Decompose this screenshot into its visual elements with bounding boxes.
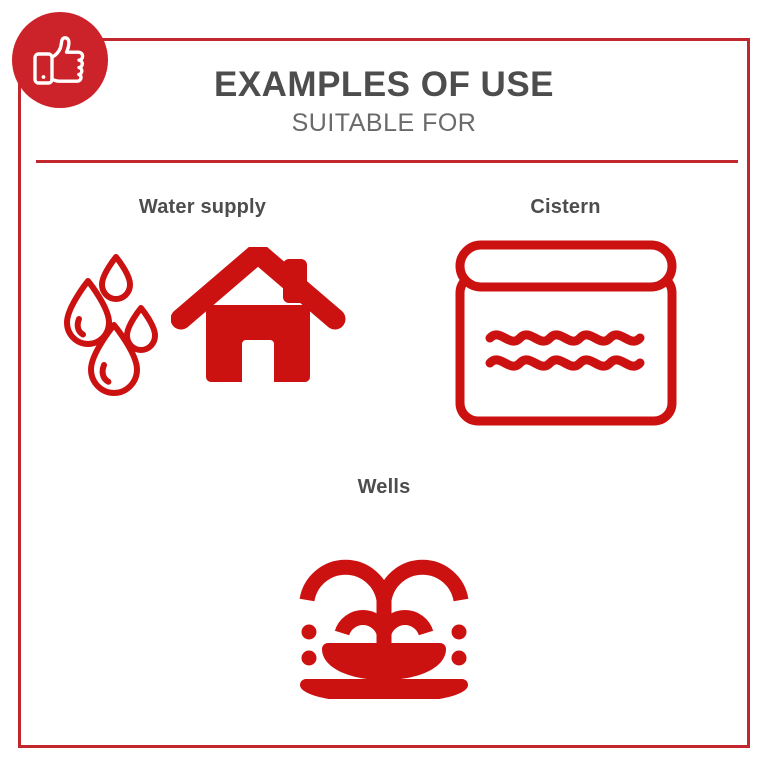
suitable-badge: [12, 12, 108, 108]
section-label-cistern: Cistern: [384, 196, 747, 219]
header-divider: [36, 160, 738, 163]
page-title: EXAMPLES OF USE: [21, 41, 747, 104]
fountain-icon: [292, 521, 476, 699]
water-droplets-icon: [59, 237, 171, 397]
page-subtitle: SUITABLE FOR: [21, 104, 747, 136]
water-supply-icon-group: [21, 237, 384, 397]
section-label-wells: Wells: [21, 476, 747, 499]
cistern-icon-group: [384, 237, 747, 429]
wells-icon-group: [21, 521, 747, 699]
section-water-supply: Water supply: [21, 196, 384, 429]
cistern-tank-icon: [452, 237, 680, 429]
sections-row-bottom: Wells: [21, 476, 747, 699]
content-frame: EXAMPLES OF USE SUITABLE FOR Water suppl…: [18, 38, 750, 748]
thumbs-up-icon: [29, 29, 91, 91]
house-icon: [171, 247, 346, 387]
section-cistern: Cistern: [384, 196, 747, 429]
header: EXAMPLES OF USE SUITABLE FOR: [21, 41, 747, 136]
section-wells: Wells: [21, 476, 747, 699]
sections-row-top: Water supply: [21, 196, 747, 429]
section-label-water-supply: Water supply: [21, 196, 384, 219]
